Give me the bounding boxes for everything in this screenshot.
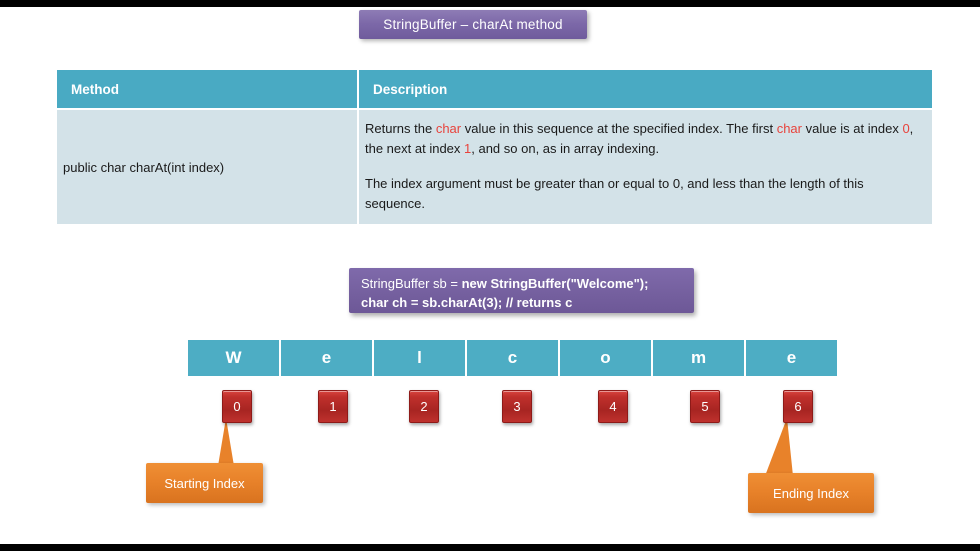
keyword-char-1: char	[436, 121, 461, 136]
index-badge: 6	[783, 390, 813, 423]
starting-index-callout: Starting Index	[146, 463, 263, 503]
index-badge: 0	[222, 390, 252, 423]
code-line-2: char ch = sb.charAt(3); // returns c	[361, 293, 694, 312]
index-badge: 3	[502, 390, 532, 423]
table-header-description: Description	[359, 70, 932, 108]
code-line-2-text: char ch = sb.charAt(3); // returns c	[361, 295, 572, 310]
keyword-index-0: 0	[902, 121, 909, 136]
bottom-black-bar	[0, 544, 980, 551]
index-badge: 2	[409, 390, 439, 423]
top-black-bar	[0, 0, 980, 7]
description-paragraph-2: The index argument must be greater than …	[365, 174, 920, 214]
string-character-strip: W e l c o m e	[188, 340, 837, 376]
desc-text-e: , and so on, as in array indexing.	[471, 141, 659, 156]
char-box: m	[653, 340, 744, 376]
slide-title-banner: StringBuffer – charAt method	[359, 10, 587, 39]
desc-text-b: value in this sequence at the specified …	[461, 121, 777, 136]
slide-title: StringBuffer – charAt method	[383, 17, 562, 32]
ending-index-pointer	[765, 418, 793, 476]
char-box: e	[281, 340, 372, 376]
desc-text-a: Returns the	[365, 121, 436, 136]
index-badge: 4	[598, 390, 628, 423]
code-line-1-constructor: new StringBuffer("Welcome");	[462, 276, 649, 291]
table-header-method: Method	[57, 70, 357, 108]
keyword-char-2: char	[777, 121, 802, 136]
char-box: e	[746, 340, 837, 376]
char-box: o	[560, 340, 651, 376]
method-table: Method Description public char charAt(in…	[57, 70, 932, 224]
index-badge: 1	[318, 390, 348, 423]
description-paragraph-1: Returns the char value in this sequence …	[365, 119, 920, 159]
code-line-1-declaration: StringBuffer sb =	[361, 276, 462, 291]
table-row: public char charAt(int index) Returns th…	[57, 110, 932, 224]
table-cell-description: Returns the char value in this sequence …	[359, 110, 932, 224]
ending-index-callout: Ending Index	[748, 473, 874, 513]
code-snippet-box: StringBuffer sb = new StringBuffer("Welc…	[349, 268, 694, 313]
desc-text-c: value is at index	[802, 121, 902, 136]
char-box: l	[374, 340, 465, 376]
index-badge: 5	[690, 390, 720, 423]
char-box: c	[467, 340, 558, 376]
char-box: W	[188, 340, 279, 376]
table-header-row: Method Description	[57, 70, 932, 108]
code-line-1: StringBuffer sb = new StringBuffer("Welc…	[361, 274, 694, 293]
table-cell-method-signature: public char charAt(int index)	[57, 110, 357, 224]
starting-index-pointer	[218, 418, 234, 466]
